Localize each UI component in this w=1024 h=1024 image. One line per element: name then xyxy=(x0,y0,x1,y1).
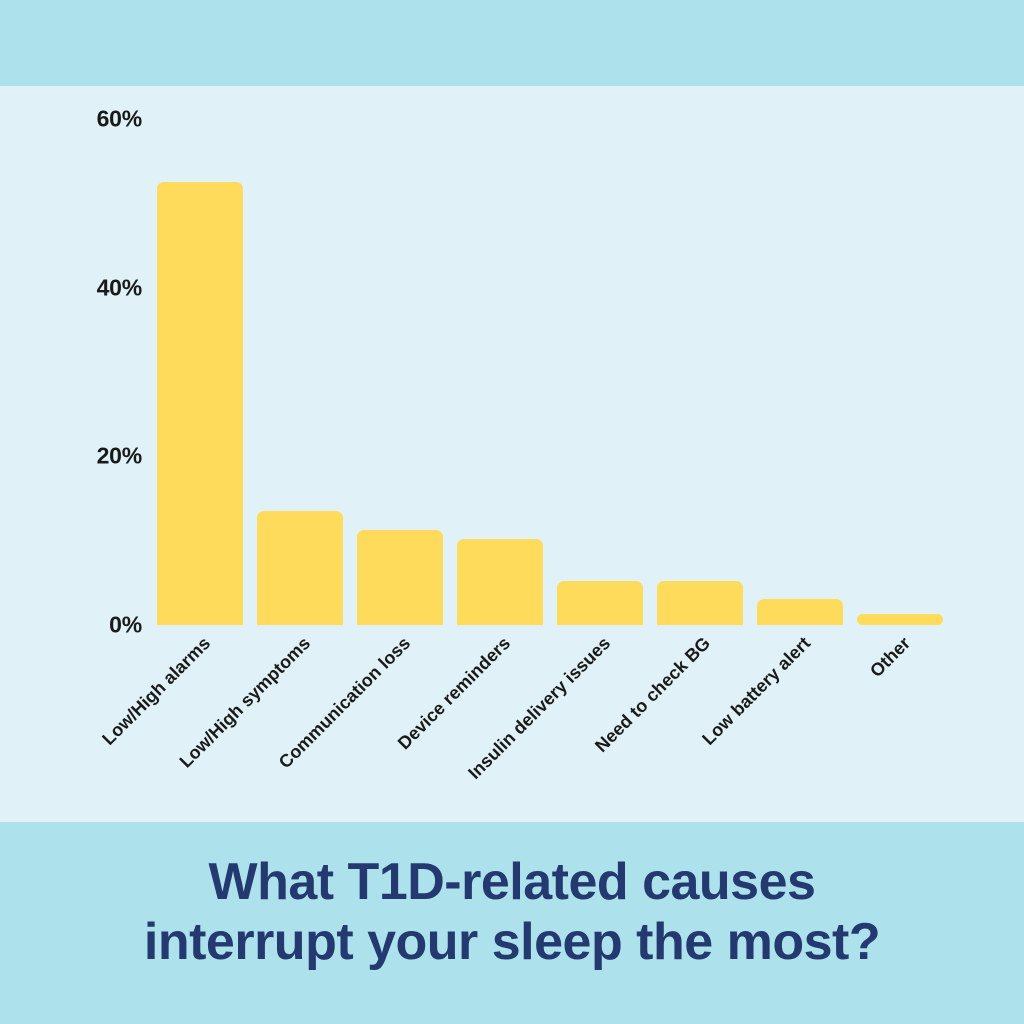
bar-chart: 0%20%40%60% Low/High alarmsLow/High symp… xyxy=(0,86,1024,822)
x-axis-labels: Low/High alarmsLow/High symptomsCommunic… xyxy=(150,625,950,825)
y-axis-tick-60: 60% xyxy=(97,108,142,131)
plot-area xyxy=(150,86,950,625)
y-axis-tick-0: 0% xyxy=(109,614,142,637)
title-line-2: interrupt your sleep the most? xyxy=(0,912,1024,972)
bar-7 xyxy=(857,614,943,625)
y-axis-tick-20: 20% xyxy=(97,445,142,468)
bar-4 xyxy=(557,581,643,625)
bar-2 xyxy=(357,530,443,625)
bar-5 xyxy=(657,581,743,625)
top-color-band xyxy=(0,0,1024,86)
title-line-1: What T1D-related causes xyxy=(0,852,1024,912)
bar-3 xyxy=(457,539,543,625)
infographic-poster: 0%20%40%60% Low/High alarmsLow/High symp… xyxy=(0,0,1024,1024)
bar-6 xyxy=(757,599,843,625)
bar-1 xyxy=(257,511,343,625)
page-title: What T1D-related causes interrupt your s… xyxy=(0,852,1024,973)
y-axis-tick-40: 40% xyxy=(97,276,142,299)
bar-0 xyxy=(157,182,243,625)
